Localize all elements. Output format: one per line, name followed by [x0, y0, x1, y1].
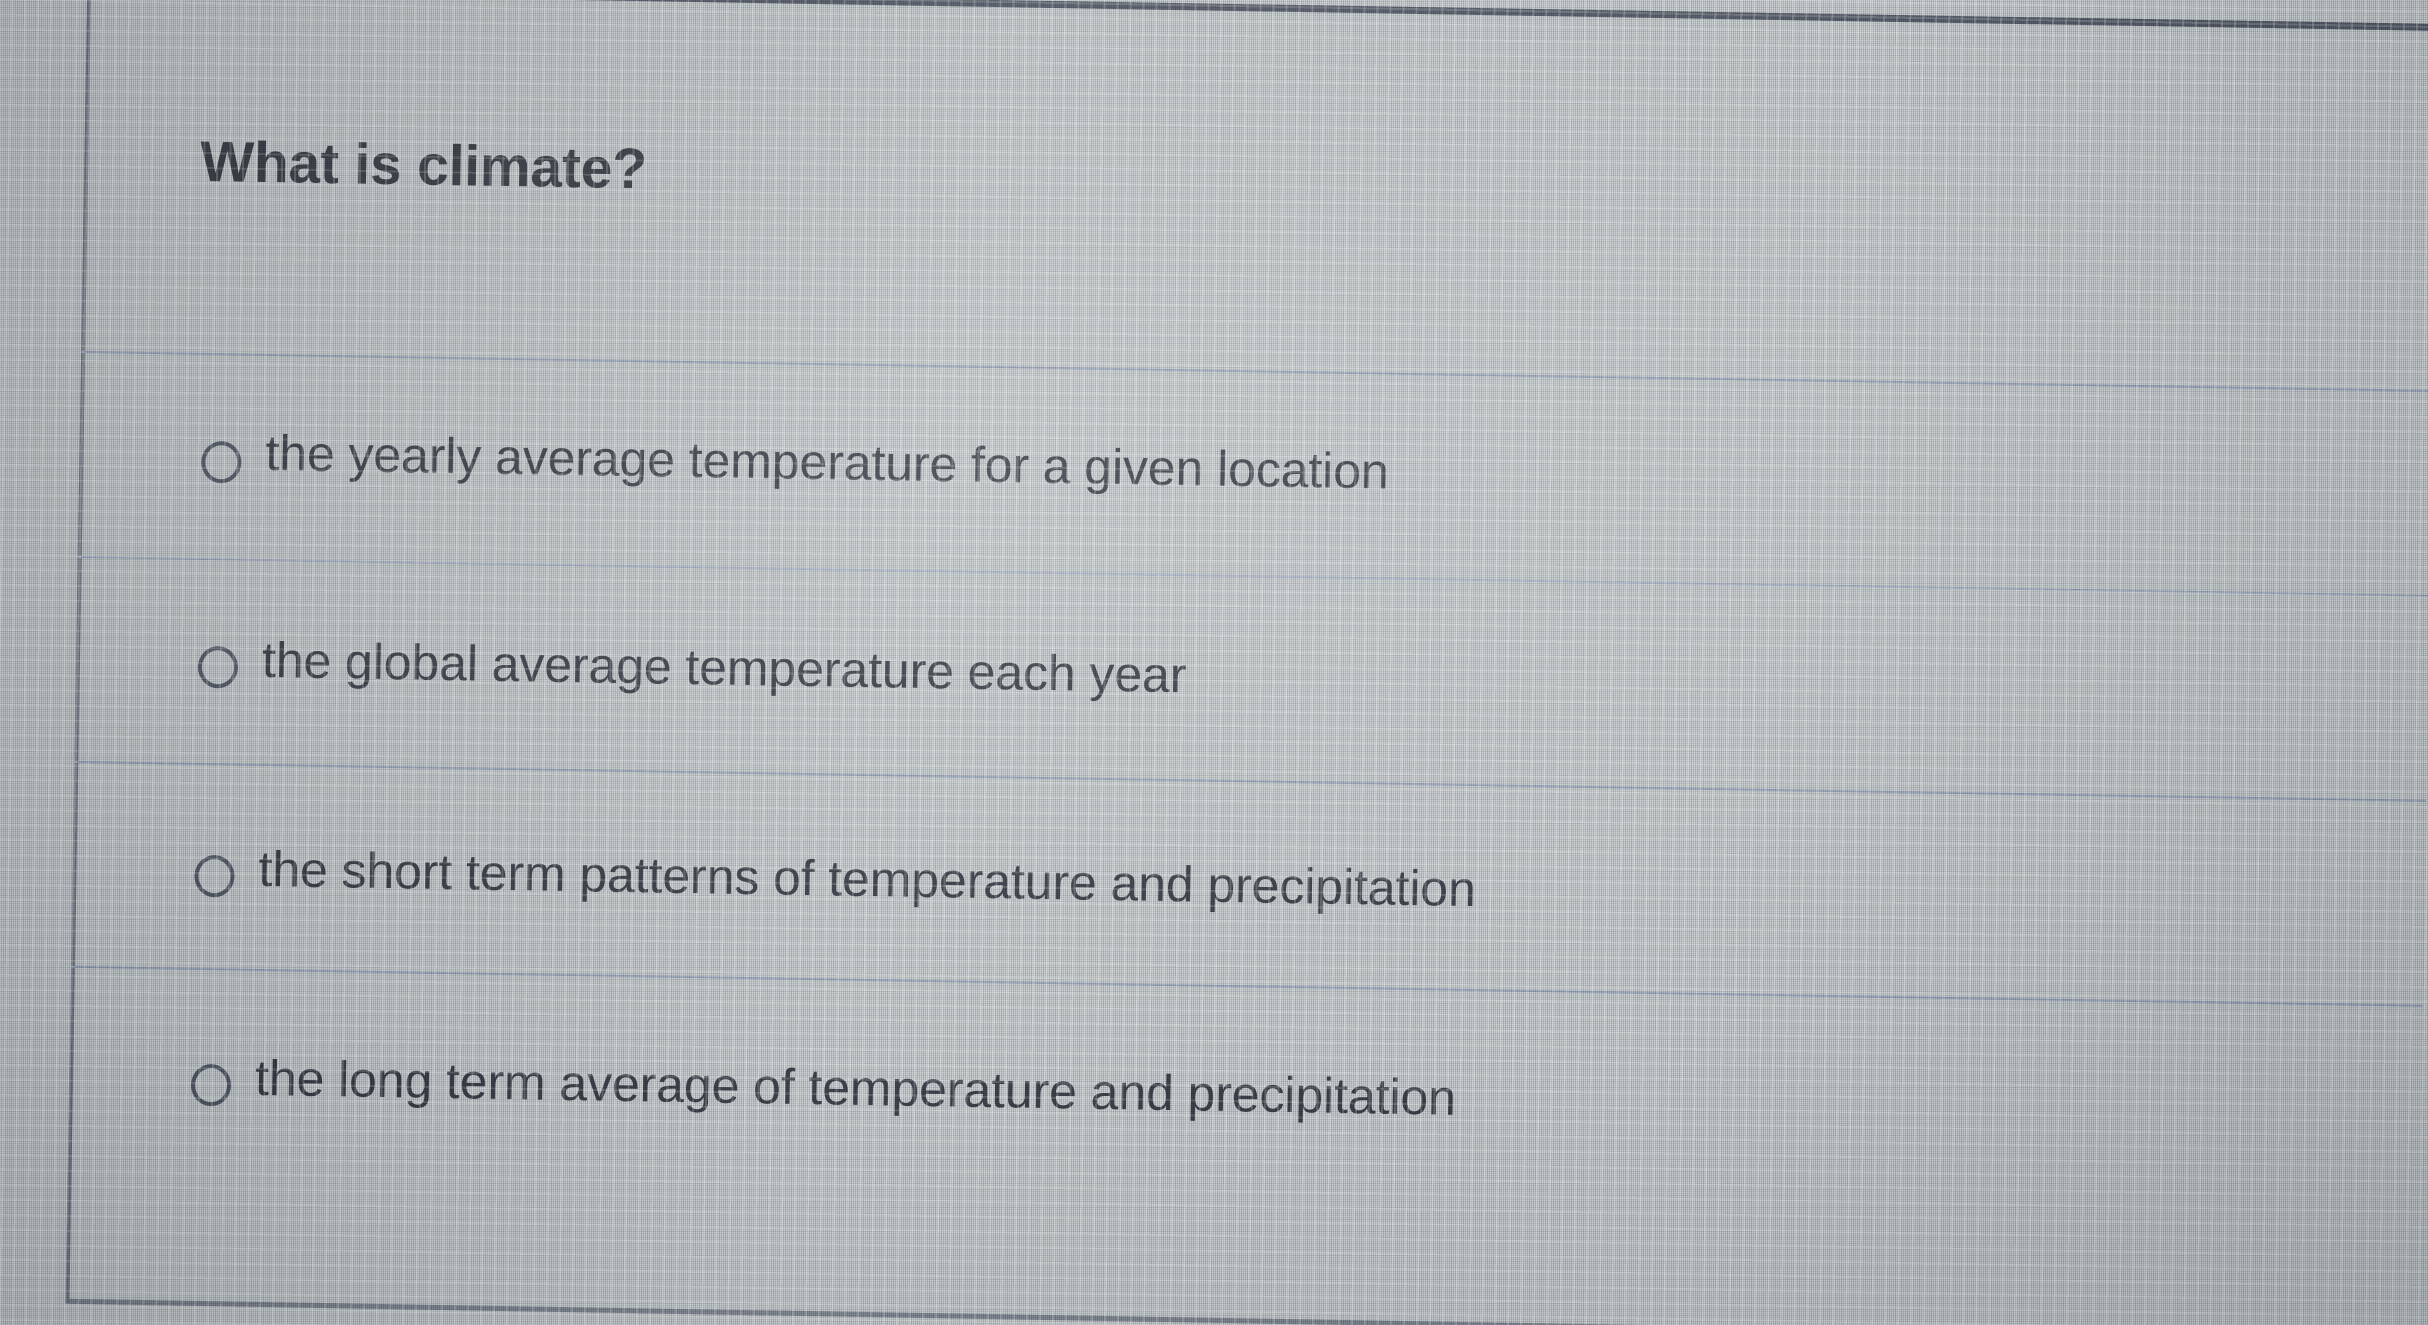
- answer-option-d[interactable]: the long term average of temperature and…: [68, 966, 2423, 1210]
- question-title: What is climate?: [200, 129, 648, 202]
- question-card: What is climate? the yearly average temp…: [65, 0, 2428, 1325]
- screenshot-root: What is climate? the yearly average temp…: [0, 0, 2428, 1325]
- quiz-page: What is climate? the yearly average temp…: [0, 0, 2428, 1325]
- answer-option-b[interactable]: the global average temperature each year: [74, 556, 2428, 800]
- answer-option-c[interactable]: the short term patterns of temperature a…: [71, 761, 2426, 1005]
- answer-option-a[interactable]: the yearly average temperature for a giv…: [78, 351, 2428, 595]
- answer-options-list: the yearly average temperature for a giv…: [68, 351, 2428, 1210]
